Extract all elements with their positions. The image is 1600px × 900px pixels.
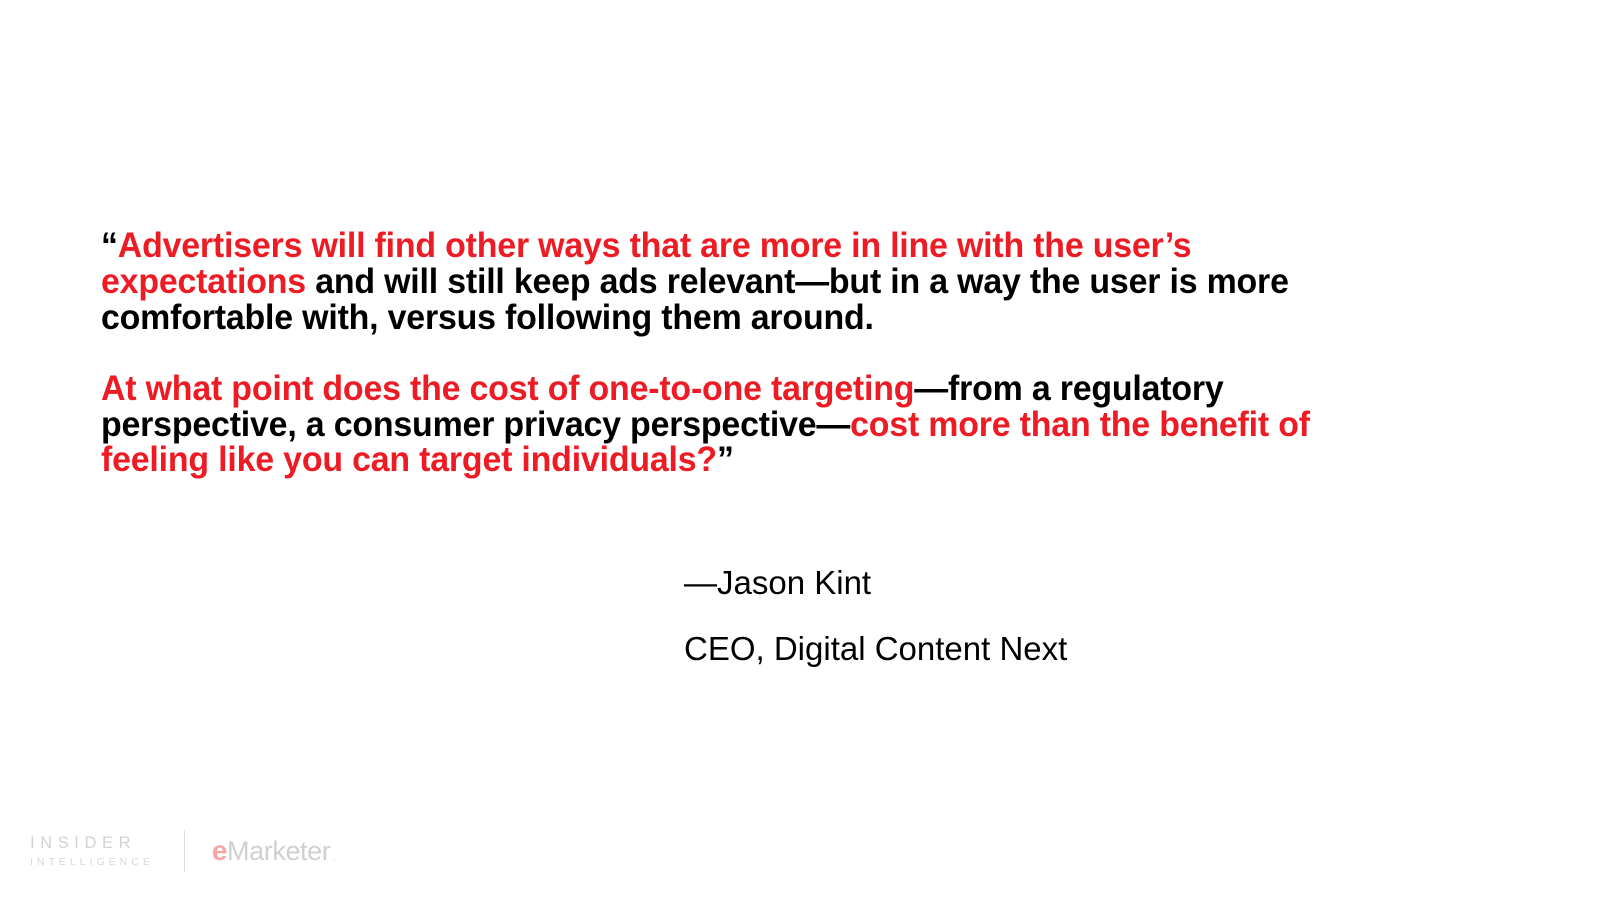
quote-p1-run-1: “ [101,225,118,265]
insider-intelligence-logo: INSIDER INTELLIGENCE [30,835,154,867]
quote-paragraph-1: “Advertisers will find other ways that a… [101,228,1400,335]
emarketer-logo-word: Marketer [227,836,330,867]
quote-paragraph-2: At what point does the cost of one-to-on… [101,371,1400,478]
insider-logo-line1: INSIDER [30,835,154,852]
quote-attribution: —Jason Kint CEO, Digital Content Next [684,566,1384,666]
emarketer-logo-initial: e [212,835,227,867]
quote-p2-run-4: ” [717,439,734,479]
quote-paragraph-gap [101,335,1461,371]
insider-logo-line2: INTELLIGENCE [30,857,154,868]
pull-quote: “Advertisers will find other ways that a… [101,228,1461,478]
emarketer-trademark-icon: · [332,854,335,866]
footer-branding: INSIDER INTELLIGENCE eMarketer· [30,828,335,874]
attribution-name: —Jason Kint [684,566,1384,600]
quote-p2-run-1: At what point does the cost of one-to-on… [101,368,914,408]
attribution-title: CEO, Digital Content Next [684,632,1384,666]
emarketer-logo: eMarketer· [212,835,335,867]
slide-canvas: “Advertisers will find other ways that a… [0,0,1600,900]
attribution-spacer [684,600,1384,632]
logo-divider [184,830,185,872]
